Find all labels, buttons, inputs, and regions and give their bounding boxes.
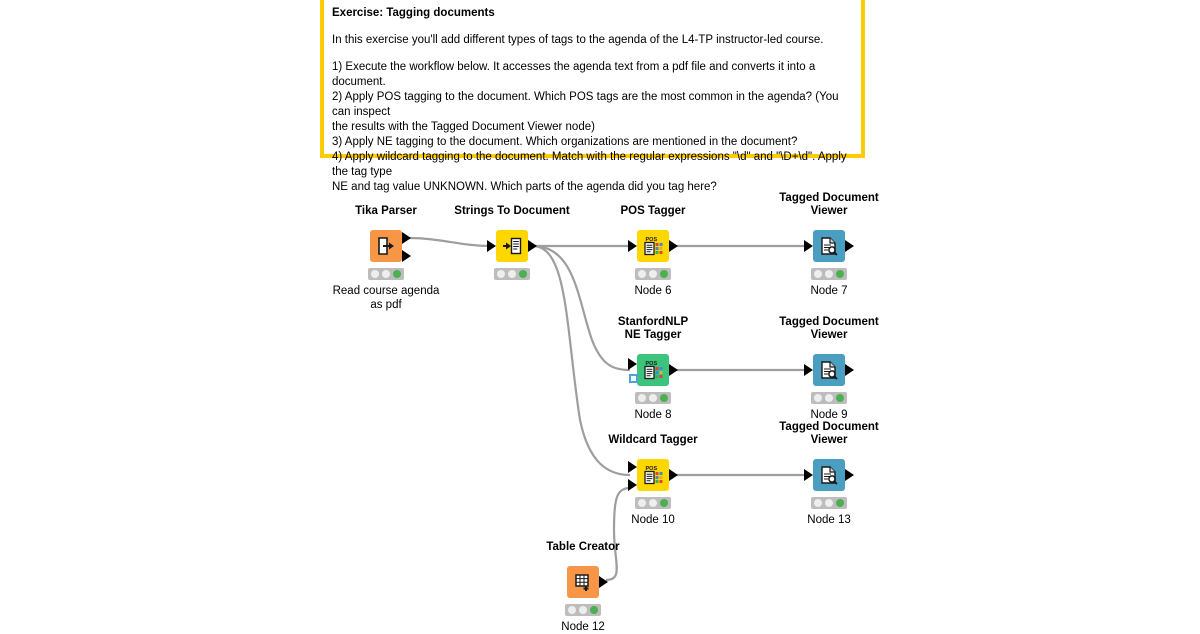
input-port[interactable] [628, 479, 637, 491]
status-led-executed [660, 499, 668, 507]
node-title: Strings To Document [454, 205, 569, 218]
strings-to-document-icon [502, 236, 522, 256]
output-port[interactable] [845, 240, 854, 252]
status-led-queued [649, 499, 657, 507]
status-led-queued [825, 270, 833, 278]
status-led-idle [371, 270, 379, 278]
output-port[interactable] [402, 250, 411, 262]
node-caption: Node 9 [810, 408, 847, 422]
output-port[interactable] [402, 232, 411, 244]
output-port[interactable] [845, 469, 854, 481]
node-status [811, 268, 847, 280]
input-port[interactable] [628, 461, 637, 473]
wire-strings-to-ne [535, 246, 630, 370]
workflow-annotation[interactable]: Exercise: Tagging documents In this exer… [320, 0, 865, 158]
status-led-idle [638, 270, 646, 278]
annotation-intro: In this exercise you'll add different ty… [332, 33, 853, 48]
node-status [635, 268, 671, 280]
optional-input-port[interactable] [629, 374, 638, 383]
node-icon-box[interactable] [370, 230, 402, 262]
status-led-queued [649, 270, 657, 278]
node-title: Table Creator [546, 541, 619, 554]
status-led-queued [825, 499, 833, 507]
pos-tagger-icon: POS [642, 235, 664, 257]
status-led-queued [508, 270, 516, 278]
status-led-idle [814, 270, 822, 278]
wire-table-to-wildcard [606, 488, 630, 580]
wire-tika-to-strings [409, 238, 492, 246]
node-icon-box[interactable] [813, 230, 845, 262]
node-status [635, 392, 671, 404]
status-led-idle [814, 499, 822, 507]
input-port[interactable] [628, 358, 637, 370]
input-port[interactable] [628, 240, 637, 252]
document-search-icon [819, 465, 839, 485]
node-icon-box[interactable] [813, 354, 845, 386]
node-title: Tagged DocumentViewer [769, 421, 889, 447]
node-status [635, 497, 671, 509]
workflow-canvas: Exercise: Tagging documents In this exer… [0, 0, 1200, 630]
annotation-step: the results with the Tagged Document Vie… [332, 120, 853, 135]
node-caption: Node 6 [634, 284, 671, 298]
node-status [811, 392, 847, 404]
node-caption: Node 7 [810, 284, 847, 298]
pos-tagger-icon: POS [642, 359, 664, 381]
node-icon-box[interactable]: POS [637, 230, 669, 262]
status-led-queued [579, 606, 587, 614]
node-title: POS Tagger [621, 205, 686, 218]
input-port[interactable] [487, 240, 496, 252]
status-led-queued [382, 270, 390, 278]
document-search-icon [819, 236, 839, 256]
status-led-executed [660, 394, 668, 402]
node-icon-box[interactable] [813, 459, 845, 491]
output-port[interactable] [599, 576, 608, 588]
status-led-idle [568, 606, 576, 614]
status-led-executed [393, 270, 401, 278]
node-title: Tika Parser [355, 205, 417, 218]
input-port[interactable] [804, 240, 813, 252]
node-title: Tagged DocumentViewer [769, 192, 889, 218]
pos-tagger-icon: POS [642, 464, 664, 486]
output-port[interactable] [845, 364, 854, 376]
node-icon-box[interactable]: POS [637, 354, 669, 386]
table-plus-icon [573, 572, 593, 592]
status-led-executed [519, 270, 527, 278]
status-led-idle [814, 394, 822, 402]
input-port[interactable] [804, 469, 813, 481]
document-search-icon [819, 360, 839, 380]
node-icon-box[interactable] [496, 230, 528, 262]
output-port[interactable] [669, 240, 678, 252]
node-caption: Node 12 [561, 620, 604, 634]
output-port[interactable] [669, 364, 678, 376]
output-port[interactable] [669, 469, 678, 481]
status-led-executed [836, 394, 844, 402]
node-title: Tagged DocumentViewer [769, 316, 889, 342]
node-status [811, 497, 847, 509]
annotation-step: 4) Apply wildcard tagging to the documen… [332, 150, 853, 180]
file-export-icon [376, 236, 396, 256]
node-title: StanfordNLPNE Tagger [593, 316, 713, 342]
status-led-executed [590, 606, 598, 614]
node-status [494, 268, 530, 280]
annotation-step: 2) Apply POS tagging to the document. Wh… [332, 90, 853, 120]
annotation-title: Exercise: Tagging documents [332, 6, 853, 21]
status-led-queued [825, 394, 833, 402]
node-title: Wildcard Tagger [608, 434, 697, 447]
annotation-steps: 1) Execute the workflow below. It access… [332, 60, 853, 195]
input-port[interactable] [804, 364, 813, 376]
status-led-idle [638, 394, 646, 402]
output-port[interactable] [528, 240, 537, 252]
node-icon-box[interactable]: POS [637, 459, 669, 491]
status-led-idle [638, 499, 646, 507]
node-caption: Node 8 [634, 408, 671, 422]
node-icon-box[interactable] [567, 566, 599, 598]
annotation-step: 1) Execute the workflow below. It access… [332, 60, 853, 90]
node-status [368, 268, 404, 280]
status-led-idle [497, 270, 505, 278]
status-led-executed [836, 270, 844, 278]
node-caption: Node 10 [631, 513, 674, 527]
node-status [565, 604, 601, 616]
status-led-executed [836, 499, 844, 507]
status-led-queued [649, 394, 657, 402]
annotation-step: 3) Apply NE tagging to the document. Whi… [332, 135, 853, 150]
status-led-executed [660, 270, 668, 278]
node-caption: Read course agendaas pdf [321, 284, 451, 312]
node-caption: Node 13 [807, 513, 850, 527]
